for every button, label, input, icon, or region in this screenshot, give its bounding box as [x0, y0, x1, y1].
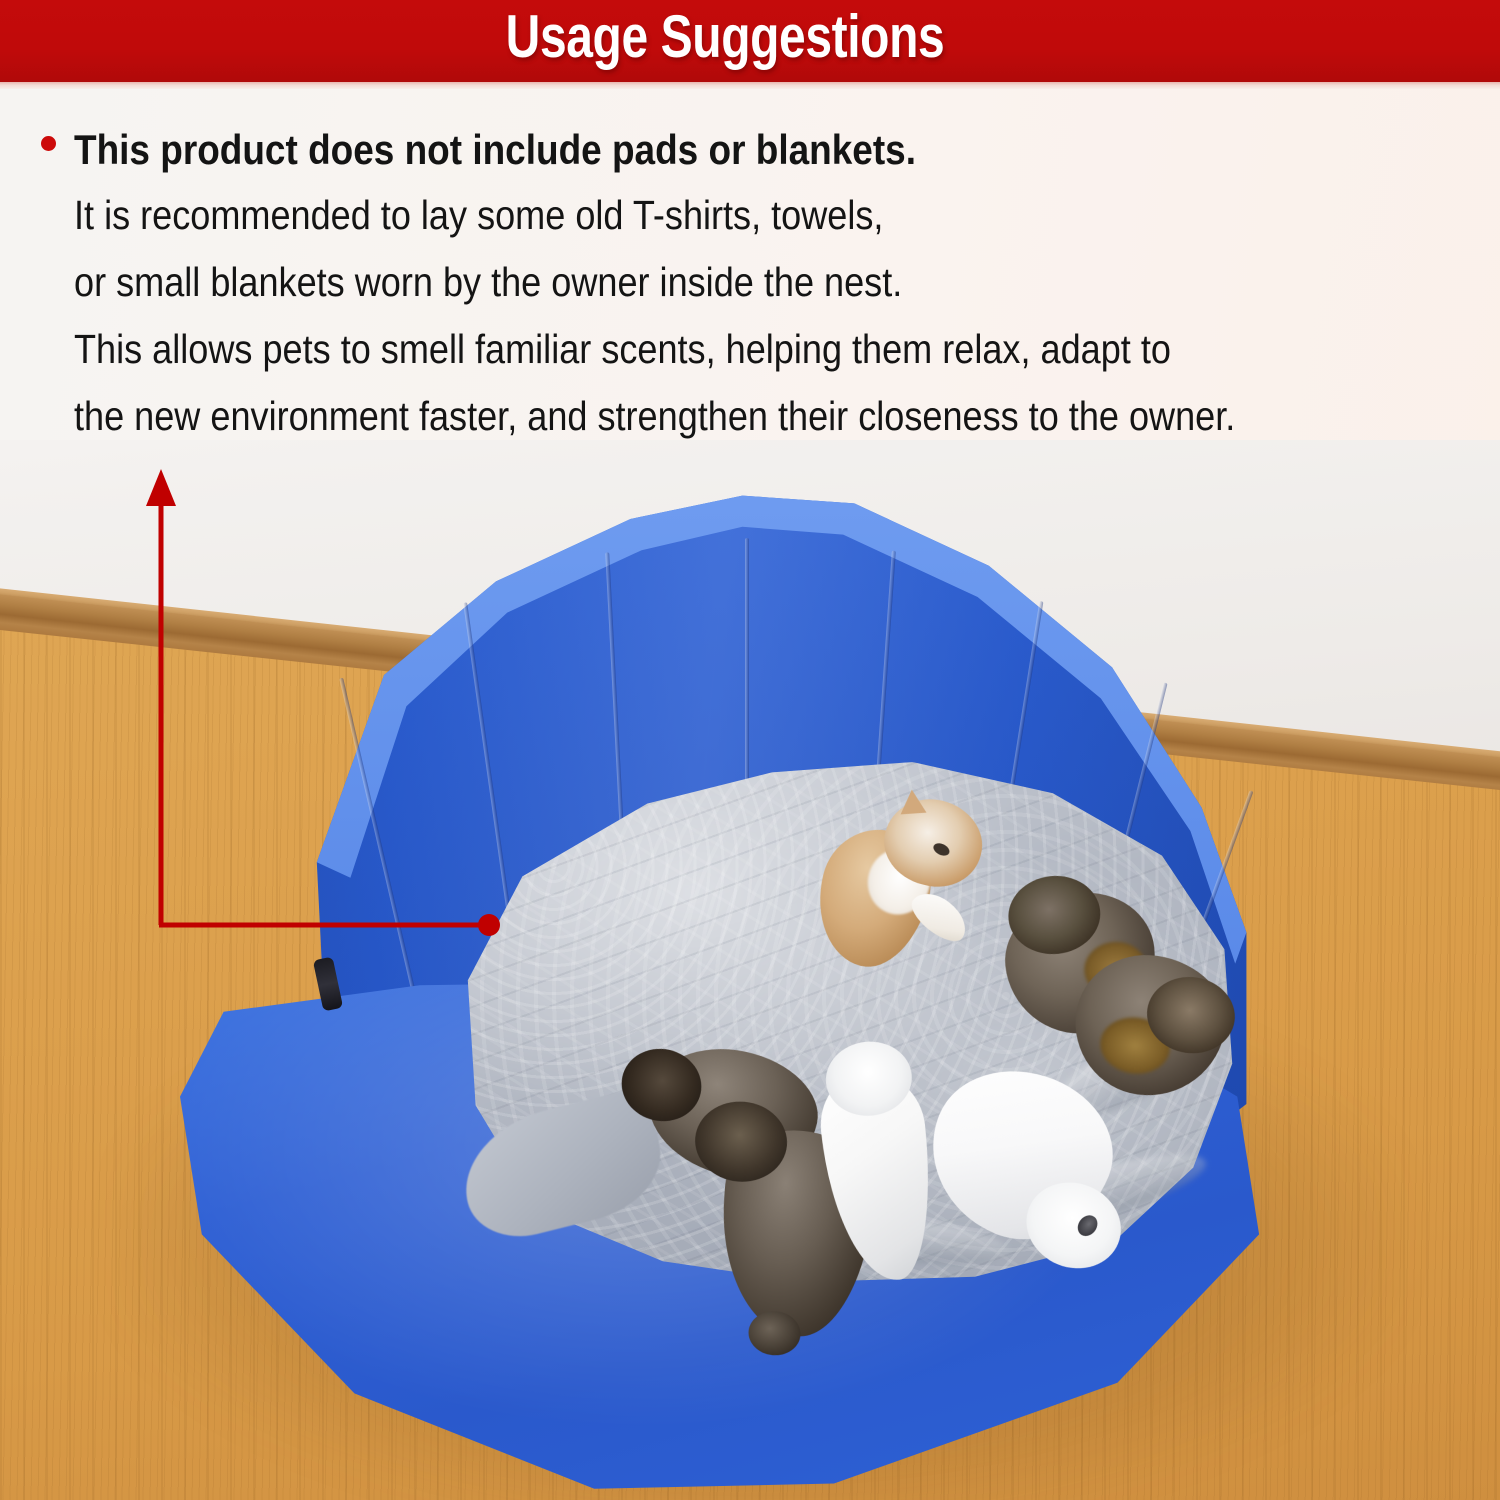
bullet-dot-icon [41, 136, 56, 151]
kitten-ear [899, 789, 927, 815]
usage-line-1: This product does not include pads or bl… [74, 126, 916, 174]
product-photo [0, 440, 1500, 1500]
usage-line-4: This allows pets to smell familiar scent… [74, 326, 1171, 373]
usage-text-block: This product does not include pads or bl… [0, 116, 1500, 178]
usage-line-2: It is recommended to lay some old T-shir… [74, 192, 883, 239]
page-title: Usage Suggestions [145, 2, 1305, 71]
header-banner-stripe [0, 82, 1500, 89]
blue-playpen [160, 480, 1280, 1500]
usage-suggestions-infographic: Usage Suggestions This product does not … [0, 0, 1500, 1500]
usage-line-5: the new environment faster, and strength… [74, 393, 1235, 440]
usage-line-3: or small blankets worn by the owner insi… [74, 259, 902, 306]
